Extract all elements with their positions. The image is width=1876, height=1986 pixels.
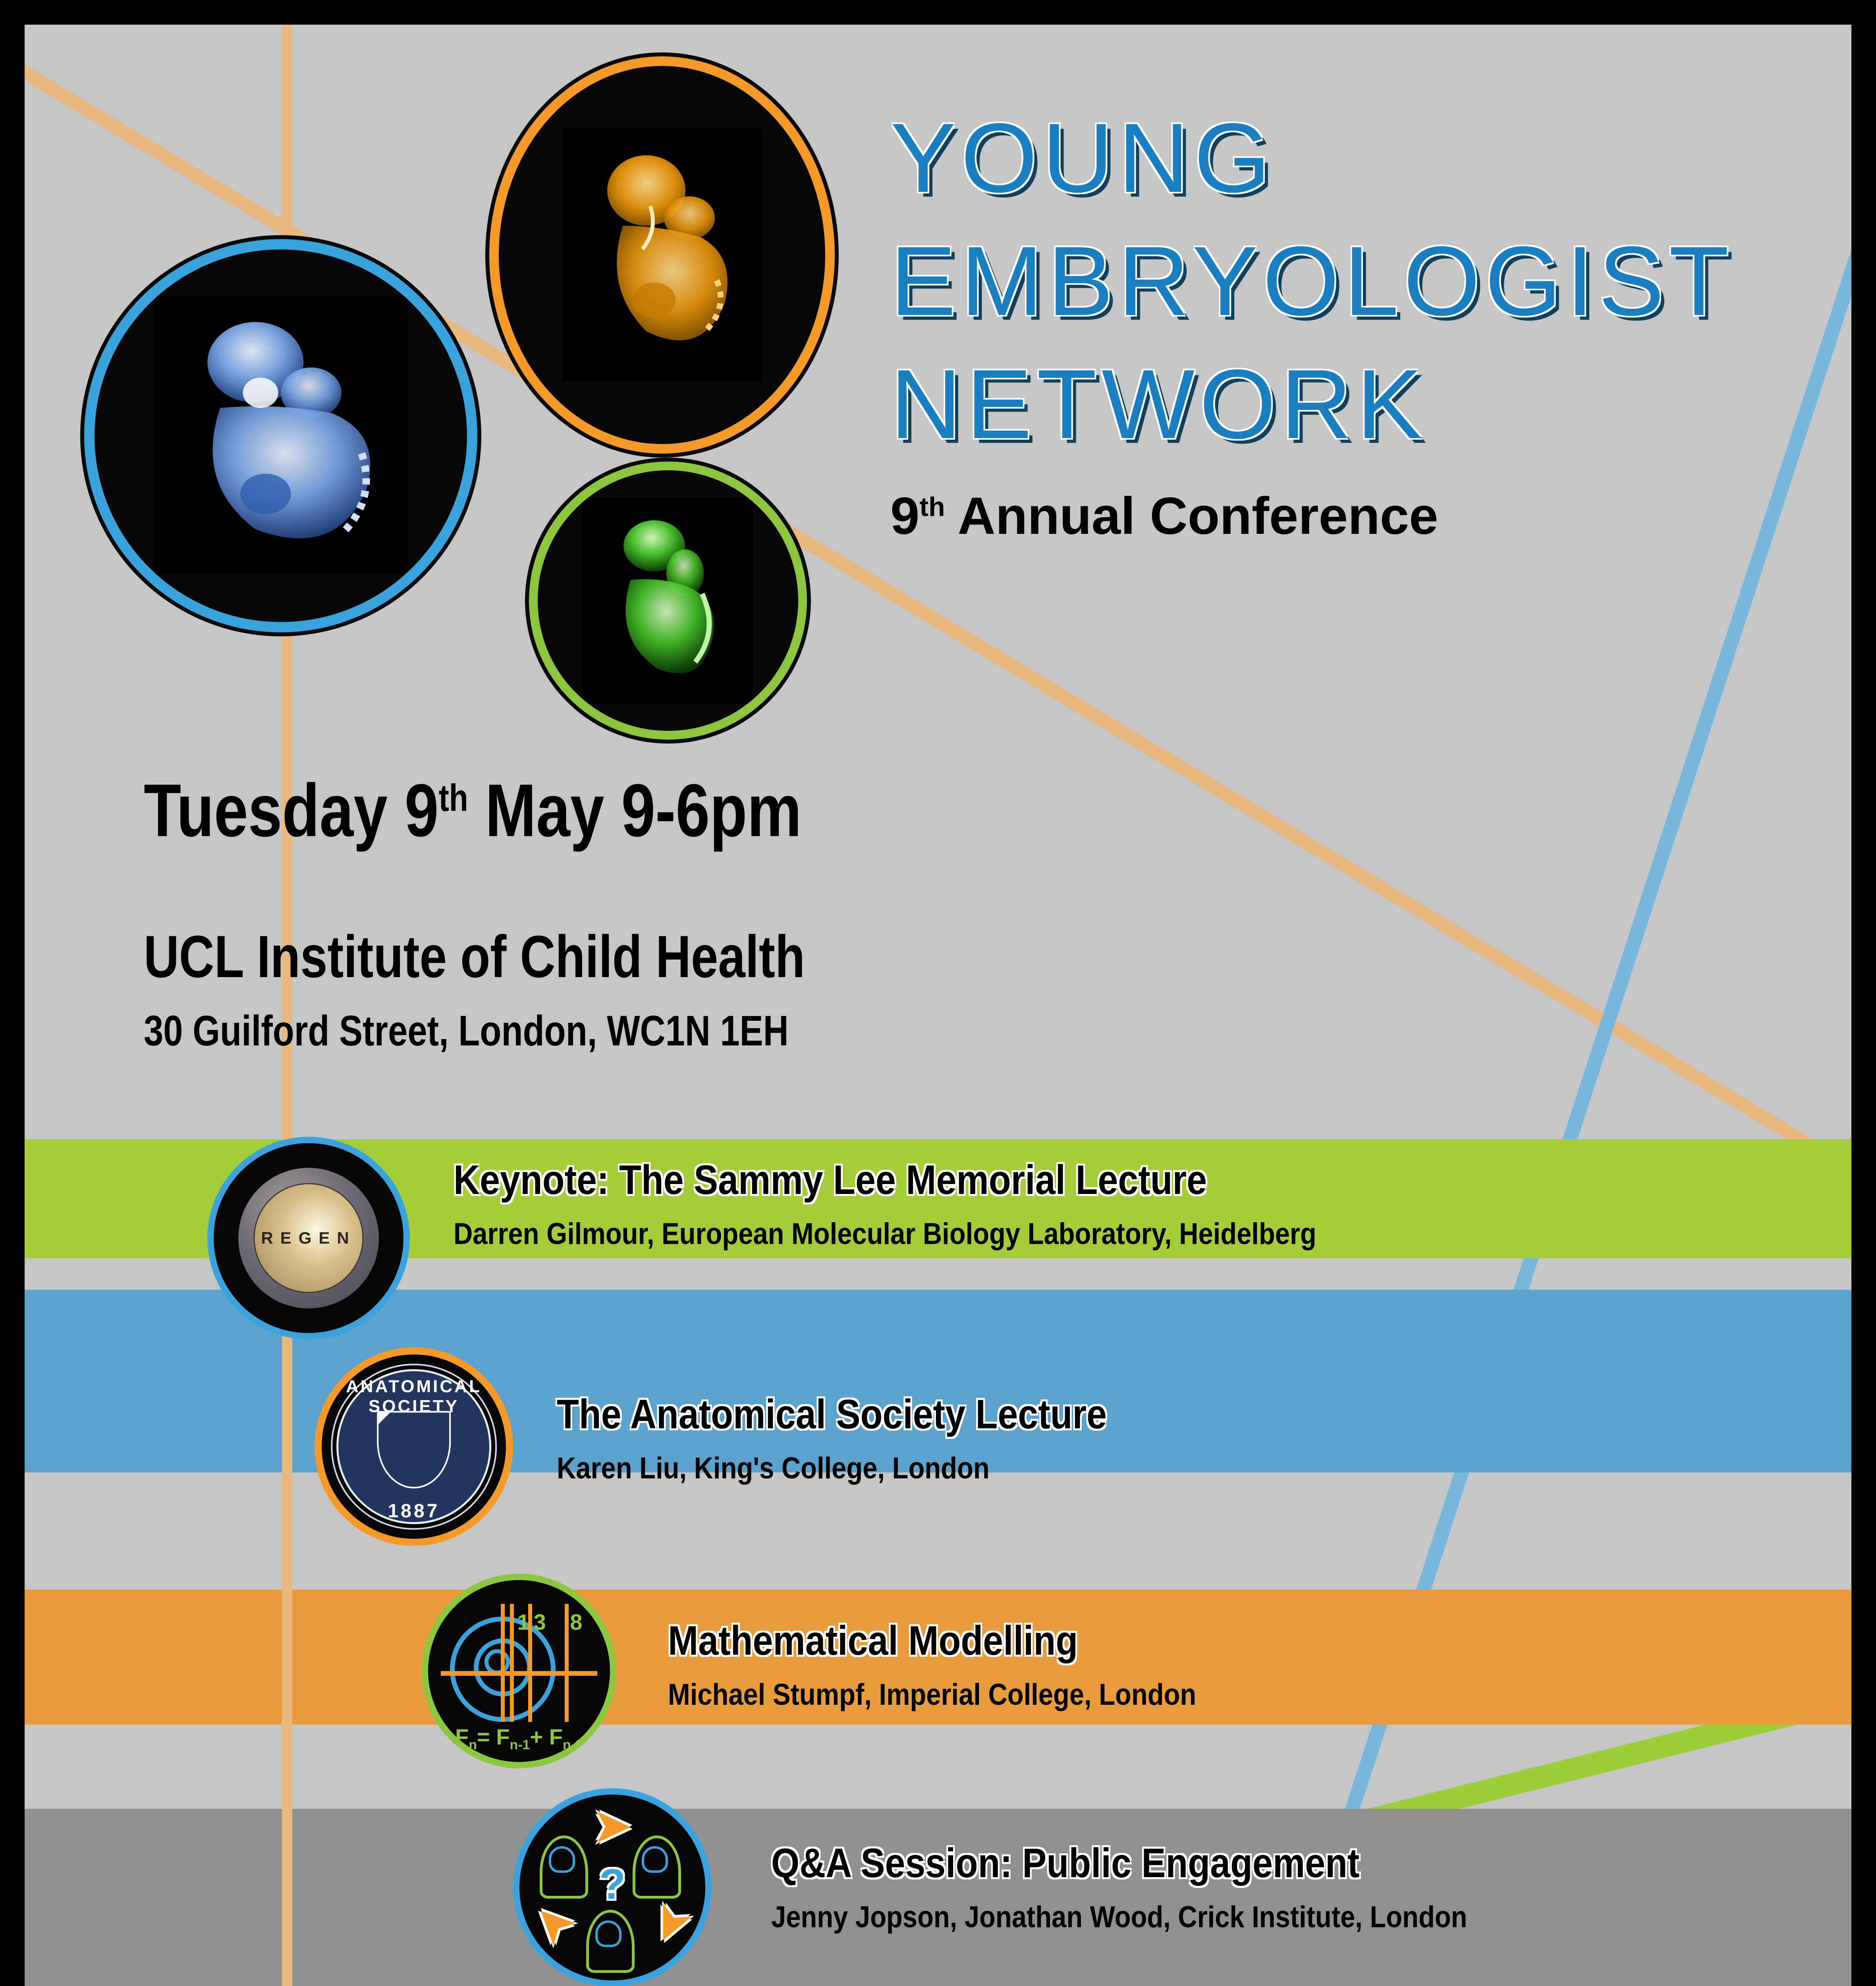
head-right-icon xyxy=(633,1835,681,1899)
head-bottom-icon xyxy=(586,1910,635,1973)
session-maths-title: Mathematical Modelling xyxy=(668,1617,1196,1665)
session-keynote: REGEN Keynote: The Sammy Lee Memorial Le… xyxy=(25,1133,1851,1264)
formula-sub-n1: n-1 xyxy=(510,1737,530,1752)
date-suffix: May 9-6pm xyxy=(468,769,802,852)
session-keynote-speaker: Darren Gilmour, European Molecular Biolo… xyxy=(454,1217,1316,1251)
title-line-2: EMBRYOLOGIST xyxy=(890,219,1843,342)
session-anatomical-text: The Anatomical Society Lecture Karen Liu… xyxy=(557,1391,1182,1486)
conference-poster: YOUNG EMBRYOLOGIST NETWORK 9th Annual Co… xyxy=(0,0,1876,1986)
title-line-1: YOUNG xyxy=(890,96,1843,219)
arrow-top-icon: ➤ xyxy=(594,1800,631,1852)
session-qa-title: Q&A Session: Public Engagement xyxy=(771,1840,1467,1887)
green-embryo-bubble xyxy=(529,462,807,740)
axis-vertical-2 xyxy=(510,1604,514,1722)
date-ordinal: th xyxy=(439,777,468,819)
session-qa: ? ➤ ➤ ➤ Q&A Session: Public Engagement J… xyxy=(25,1788,1851,1963)
event-venue: UCL Institute of Child Health xyxy=(144,922,805,991)
head-left-icon xyxy=(540,1835,588,1899)
fib-number-3: 3 xyxy=(534,1609,546,1635)
session-keynote-text: Keynote: The Sammy Lee Memorial Lecture … xyxy=(454,1157,1434,1251)
formula-f1: F xyxy=(455,1724,469,1749)
poster-title: YOUNG EMBRYOLOGIST NETWORK 9th Annual Co… xyxy=(890,96,1843,548)
regen-label: REGEN xyxy=(261,1229,356,1248)
axis-horizontal xyxy=(441,1671,597,1676)
fib-number-1: 1 xyxy=(517,1609,529,1635)
green-embryo-icon xyxy=(583,497,753,704)
discussion-heads-icon: ? ➤ ➤ ➤ xyxy=(513,1788,712,1986)
green-embryo-image xyxy=(583,497,753,704)
arrow-left-icon: ➤ xyxy=(521,1893,584,1956)
arrow-right-icon: ➤ xyxy=(641,1897,703,1952)
session-maths-speaker: Michael Stumpf, Imperial College, London xyxy=(668,1677,1196,1712)
session-anatomical-title: The Anatomical Society Lecture xyxy=(557,1391,1107,1438)
fibonacci-formula: Fn= Fn-1+ Fn-2 xyxy=(428,1724,610,1753)
session-anatomical-speaker: Karen Liu, King's College, London xyxy=(557,1451,1107,1486)
formula-eq: = F xyxy=(477,1724,510,1749)
poster-canvas: YOUNG EMBRYOLOGIST NETWORK 9th Annual Co… xyxy=(25,25,1851,1986)
regen-logo-icon: REGEN xyxy=(207,1137,410,1339)
event-address: 30 Guilford Street, London, WC1N 1EH xyxy=(144,1006,789,1055)
brain-right-icon xyxy=(642,1846,668,1873)
axis-vertical-4 xyxy=(565,1604,569,1722)
fib-number-8: 8 xyxy=(570,1609,582,1635)
seal-year: 1887 xyxy=(322,1500,506,1522)
session-maths: 1 3 8 Fn= Fn-1+ Fn-2 Mathematical Modell… xyxy=(25,1574,1851,1741)
title-line-3: NETWORK xyxy=(890,342,1843,466)
axis-vertical-1 xyxy=(501,1604,505,1722)
anatomical-society-seal-icon: ANATOMICAL SOCIETY 1887 xyxy=(315,1347,513,1546)
seal-top-text: ANATOMICAL SOCIETY xyxy=(322,1377,506,1416)
session-anatomical: ANATOMICAL SOCIETY 1887 The Anatomical S… xyxy=(25,1347,1851,1530)
orange-embryo-bubble xyxy=(489,56,835,454)
session-qa-speaker: Jenny Jopson, Jonathan Wood, Crick Insti… xyxy=(771,1900,1467,1934)
poster-subtitle: 9th Annual Conference xyxy=(890,475,1843,548)
subtitle-ordinal: th xyxy=(919,492,945,522)
formula-sub-n: n xyxy=(469,1737,477,1752)
formula-sub-n2: n-2 xyxy=(563,1737,583,1752)
blue-embryo-icon xyxy=(154,297,408,575)
orange-embryo-image xyxy=(563,128,761,382)
date-prefix: Tuesday 9 xyxy=(144,769,439,852)
brain-left-icon xyxy=(549,1846,575,1873)
orange-embryo-icon xyxy=(563,128,761,382)
event-date: Tuesday 9th May 9-6pm xyxy=(144,767,801,853)
fibonacci-spiral-icon: 1 3 8 Fn= Fn-1+ Fn-2 xyxy=(422,1574,616,1768)
formula-plus: + F xyxy=(530,1724,563,1749)
subtitle-number: 9 xyxy=(890,487,919,545)
blue-embryo-bubble xyxy=(84,239,477,632)
session-qa-text: Q&A Session: Public Engagement Jenny Jop… xyxy=(771,1840,1562,1934)
blue-embryo-image xyxy=(154,297,408,575)
session-keynote-title: Keynote: The Sammy Lee Memorial Lecture xyxy=(454,1157,1316,1204)
brain-bottom-icon xyxy=(595,1920,622,1947)
question-mark-icon: ? xyxy=(599,1859,625,1909)
subtitle-text: Annual Conference xyxy=(945,487,1438,545)
session-maths-text: Mathematical Modelling Michael Stumpf, I… xyxy=(668,1617,1268,1712)
